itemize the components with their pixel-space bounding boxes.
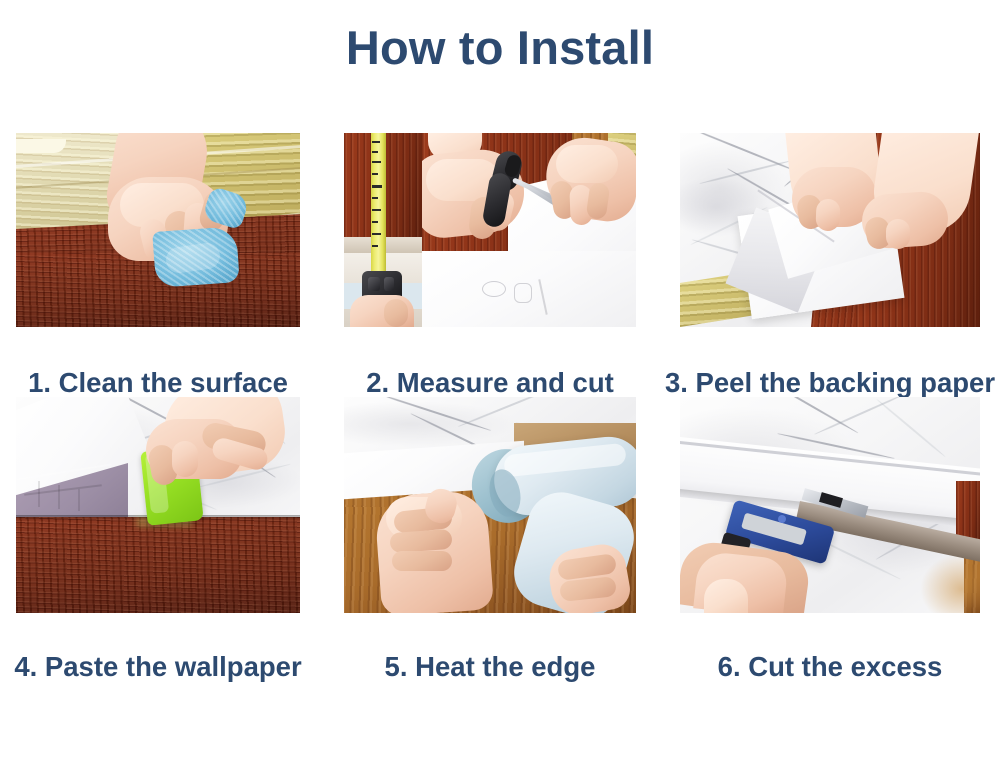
step-item-6: 6. Cut the excess <box>680 397 980 681</box>
step-item-5: 5. Heat the edge <box>344 397 636 681</box>
step-item-4: 4. Paste the wallpaper <box>16 397 300 681</box>
step-caption-1: 1. Clean the surface <box>28 369 288 397</box>
step-caption-2: 2. Measure and cut <box>366 369 614 397</box>
step-photo-6 <box>680 397 980 613</box>
step-photo-1 <box>16 133 300 327</box>
step-item-3: 3. Peel the backing paper <box>680 133 980 397</box>
step-photo-4 <box>16 397 300 613</box>
step-caption-4: 4. Paste the wallpaper <box>14 653 301 681</box>
step-photo-5 <box>344 397 636 613</box>
step-item-1: 1. Clean the surface <box>16 133 300 397</box>
steps-grid: 1. Clean the surface <box>16 133 976 680</box>
step-caption-3: 3. Peel the backing paper <box>665 369 995 397</box>
page-title: How to Install <box>0 22 1000 74</box>
step-caption-6: 6. Cut the excess <box>718 653 943 681</box>
step-caption-5: 5. Heat the edge <box>385 653 596 681</box>
step-photo-3 <box>680 133 980 327</box>
step-item-2: 2. Measure and cut <box>344 133 636 397</box>
step-photo-2 <box>344 133 636 327</box>
